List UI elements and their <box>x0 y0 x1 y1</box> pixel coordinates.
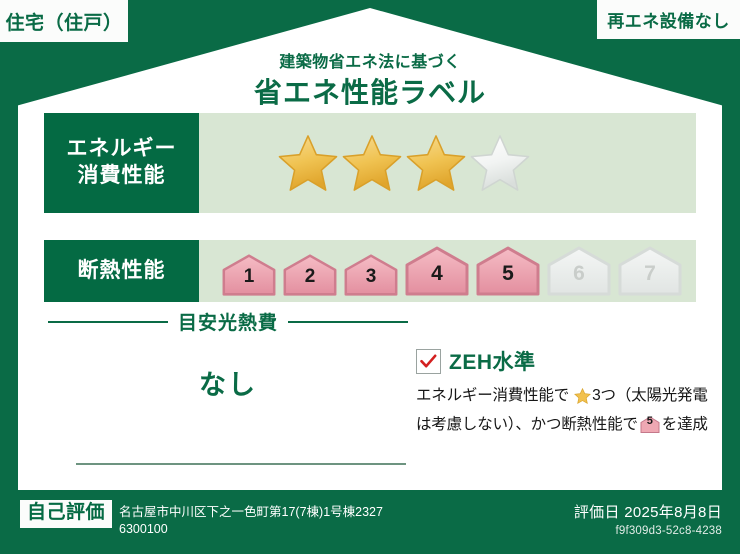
insulation-performance-key: 断熱性能 <box>44 240 199 302</box>
check-icon <box>416 349 441 374</box>
zeh-description: エネルギー消費性能で 3つ（太陽光発電 は考慮しない）、かつ断熱性能で 5を達成 <box>416 383 721 437</box>
energy-key-line-1: エネルギー <box>67 136 177 163</box>
insulation-grade-3: 3 <box>343 254 399 296</box>
star-rating <box>277 133 531 193</box>
insulation-performance-value: 1234567 <box>199 240 696 302</box>
zeh-title: ZEH水準 <box>449 346 536 376</box>
footer-left: 自己評価 名古屋市中川区下之一色町第17(7棟)1号棟23276300100 <box>20 500 383 538</box>
label-panel: 建築物省エネ法に基づく 省エネ性能ラベル エネルギー 消費性能 断熱性能 123… <box>18 8 722 490</box>
star-icon-filled <box>277 133 339 193</box>
star-icon-empty <box>469 133 531 193</box>
insulation-badge-inline: 5 <box>640 416 660 433</box>
zeh-desc-stars: 3つ（太陽光発電 <box>592 387 708 404</box>
label-footer: 自己評価 名古屋市中川区下之一色町第17(7棟)1号棟23276300100 評… <box>0 492 740 554</box>
footer-right: 評価日 2025年8月8日 f9f309d3-52c8-4238 <box>574 501 722 537</box>
energy-performance-row: エネルギー 消費性能 <box>44 113 696 213</box>
insulation-grade-4: 4 <box>404 246 470 296</box>
energy-performance-label: 住宅（住戸） 再エネ設備なし 建築物省エネ法に基づく 省エネ性能ラベル エネルギ… <box>0 0 740 554</box>
star-icon-inline <box>570 391 591 408</box>
energy-key-line-2: 消費性能 <box>78 163 166 190</box>
label-subtitle: 建築物省エネ法に基づく <box>18 48 722 72</box>
zeh-block: ZEH水準 エネルギー消費性能で 3つ（太陽光発電 は考慮しない）、かつ断熱性能… <box>416 346 721 437</box>
badge-renewable-energy: 再エネ設備なし <box>597 0 740 39</box>
rule-right <box>288 321 408 323</box>
zeh-heading: ZEH水準 <box>416 346 721 376</box>
zeh-desc-part-2: は考慮しない）、かつ断熱性能で <box>416 416 638 433</box>
insulation-performance-row: 断熱性能 1234567 <box>44 240 696 302</box>
utility-cost-heading: 目安光熱費 <box>48 308 408 335</box>
utility-cost-divider <box>76 463 406 465</box>
evaluation-id: f9f309d3-52c8-4238 <box>574 525 722 537</box>
evaluation-date: 評価日 2025年8月8日 <box>574 501 722 522</box>
badge-building-type: 住宅（住戸） <box>0 0 128 42</box>
label-title: 省エネ性能ラベル <box>18 71 722 111</box>
rule-left <box>48 321 168 323</box>
utility-cost-value: なし <box>48 363 408 402</box>
star-icon-filled <box>341 133 403 193</box>
insulation-grade-7: 7 <box>617 246 683 296</box>
zeh-desc-part-3: を達成 <box>662 416 708 433</box>
energy-performance-value <box>199 113 696 213</box>
utility-cost-label: 目安光熱費 <box>178 308 278 335</box>
zeh-desc-part-1: エネルギー消費性能で <box>416 387 569 404</box>
insulation-grade-2: 2 <box>282 254 338 296</box>
property-address: 名古屋市中川区下之一色町第17(7棟)1号棟23276300100 <box>119 500 383 538</box>
self-evaluation-badge: 自己評価 <box>20 500 112 528</box>
insulation-grade-1: 1 <box>221 254 277 296</box>
insulation-grade-6: 6 <box>546 246 612 296</box>
energy-performance-key: エネルギー 消費性能 <box>44 113 199 213</box>
insulation-grade-5: 5 <box>475 246 541 296</box>
insulation-grade-scale: 1234567 <box>221 246 683 296</box>
star-icon-filled <box>405 133 467 193</box>
